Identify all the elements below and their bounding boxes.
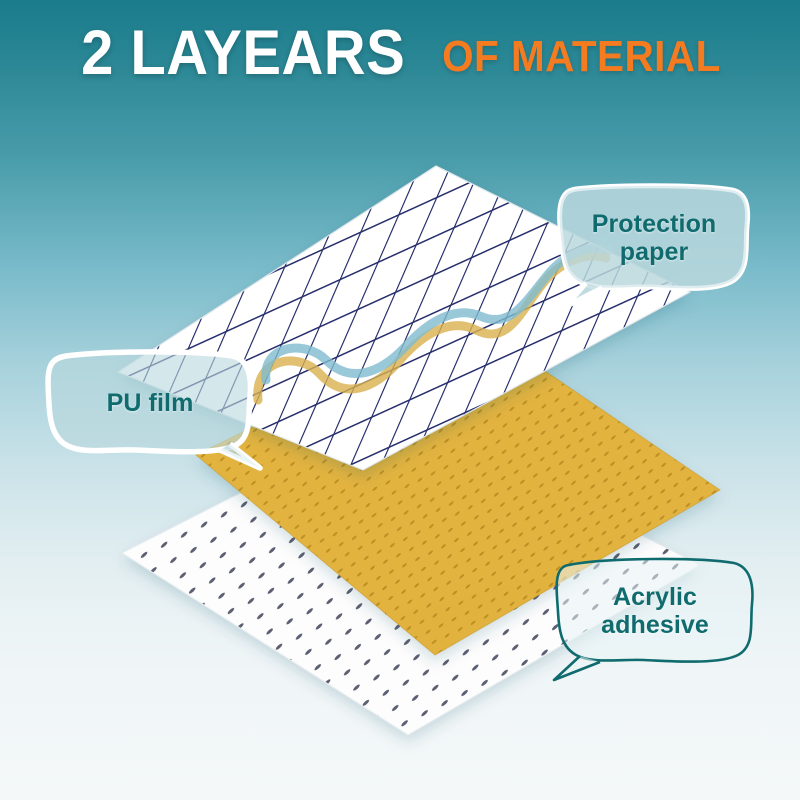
callout-protection-paper[interactable]: Protectionpaper (556, 184, 752, 292)
callout-pu-film-label: PU film (101, 389, 200, 418)
callout-protection-paper-label: Protectionpaper (586, 210, 723, 267)
callout-pu-film[interactable]: PU film (44, 350, 256, 456)
callout-acrylic-adhesive-label: Acrylicadhesive (595, 583, 715, 640)
callout-acrylic-adhesive[interactable]: Acrylicadhesive (552, 556, 758, 666)
infographic-canvas: 2 LAYEARSOF MATERIAL Protectionpaper PU … (0, 0, 800, 800)
